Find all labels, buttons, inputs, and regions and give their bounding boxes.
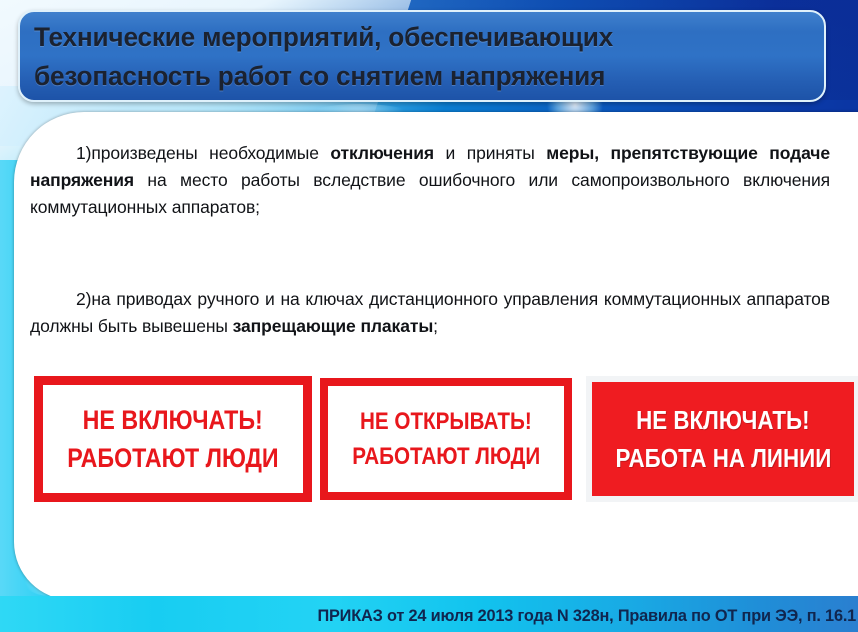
sign-line-2: РАБОТАЮТ ЛЮДИ — [352, 439, 540, 474]
slide-title: Технические мероприятий, обеспечивающих … — [34, 18, 791, 96]
list-item-2: 2)на приводах ручного и на ключах дистан… — [30, 286, 830, 340]
slide-root: Технические мероприятий, обеспечивающих … — [0, 0, 858, 632]
footer-source-reference: ПРИКАЗ от 24 июля 2013 года N 328н, Прав… — [317, 604, 856, 628]
footer-strip: ПРИКАЗ от 24 июля 2013 года N 328н, Прав… — [0, 596, 858, 632]
title-banner: Технические мероприятий, обеспечивающих … — [18, 10, 826, 102]
safety-signs-row: НЕ ВКЛЮЧАТЬ! РАБОТАЮТ ЛЮДИ НЕ ОТКРЫВАТЬ!… — [20, 376, 858, 506]
list-item-1: 1)произведены необходимые отключения и п… — [30, 140, 830, 221]
sign-line-1: НЕ ОТКРЫВАТЬ! — [360, 404, 532, 439]
safety-sign-work-on-line-plate: НЕ ВКЛЮЧАТЬ! РАБОТА НА ЛИНИИ — [592, 382, 854, 496]
safety-sign-do-not-open: НЕ ОТКРЫВАТЬ! РАБОТАЮТ ЛЮДИ — [320, 378, 572, 500]
sign-line-1: НЕ ВКЛЮЧАТЬ! — [83, 401, 263, 439]
sign-line-2: РАБОТАЮТ ЛЮДИ — [67, 439, 278, 477]
sign-line-2: РАБОТА НА ЛИНИИ — [615, 439, 831, 477]
sign-line-1: НЕ ВКЛЮЧАТЬ! — [636, 401, 809, 439]
content-panel: 1)произведены необходимые отключения и п… — [14, 112, 858, 600]
safety-sign-work-on-line: НЕ ВКЛЮЧАТЬ! РАБОТА НА ЛИНИИ — [586, 376, 858, 502]
safety-sign-do-not-switch-on: НЕ ВКЛЮЧАТЬ! РАБОТАЮТ ЛЮДИ — [34, 376, 312, 502]
